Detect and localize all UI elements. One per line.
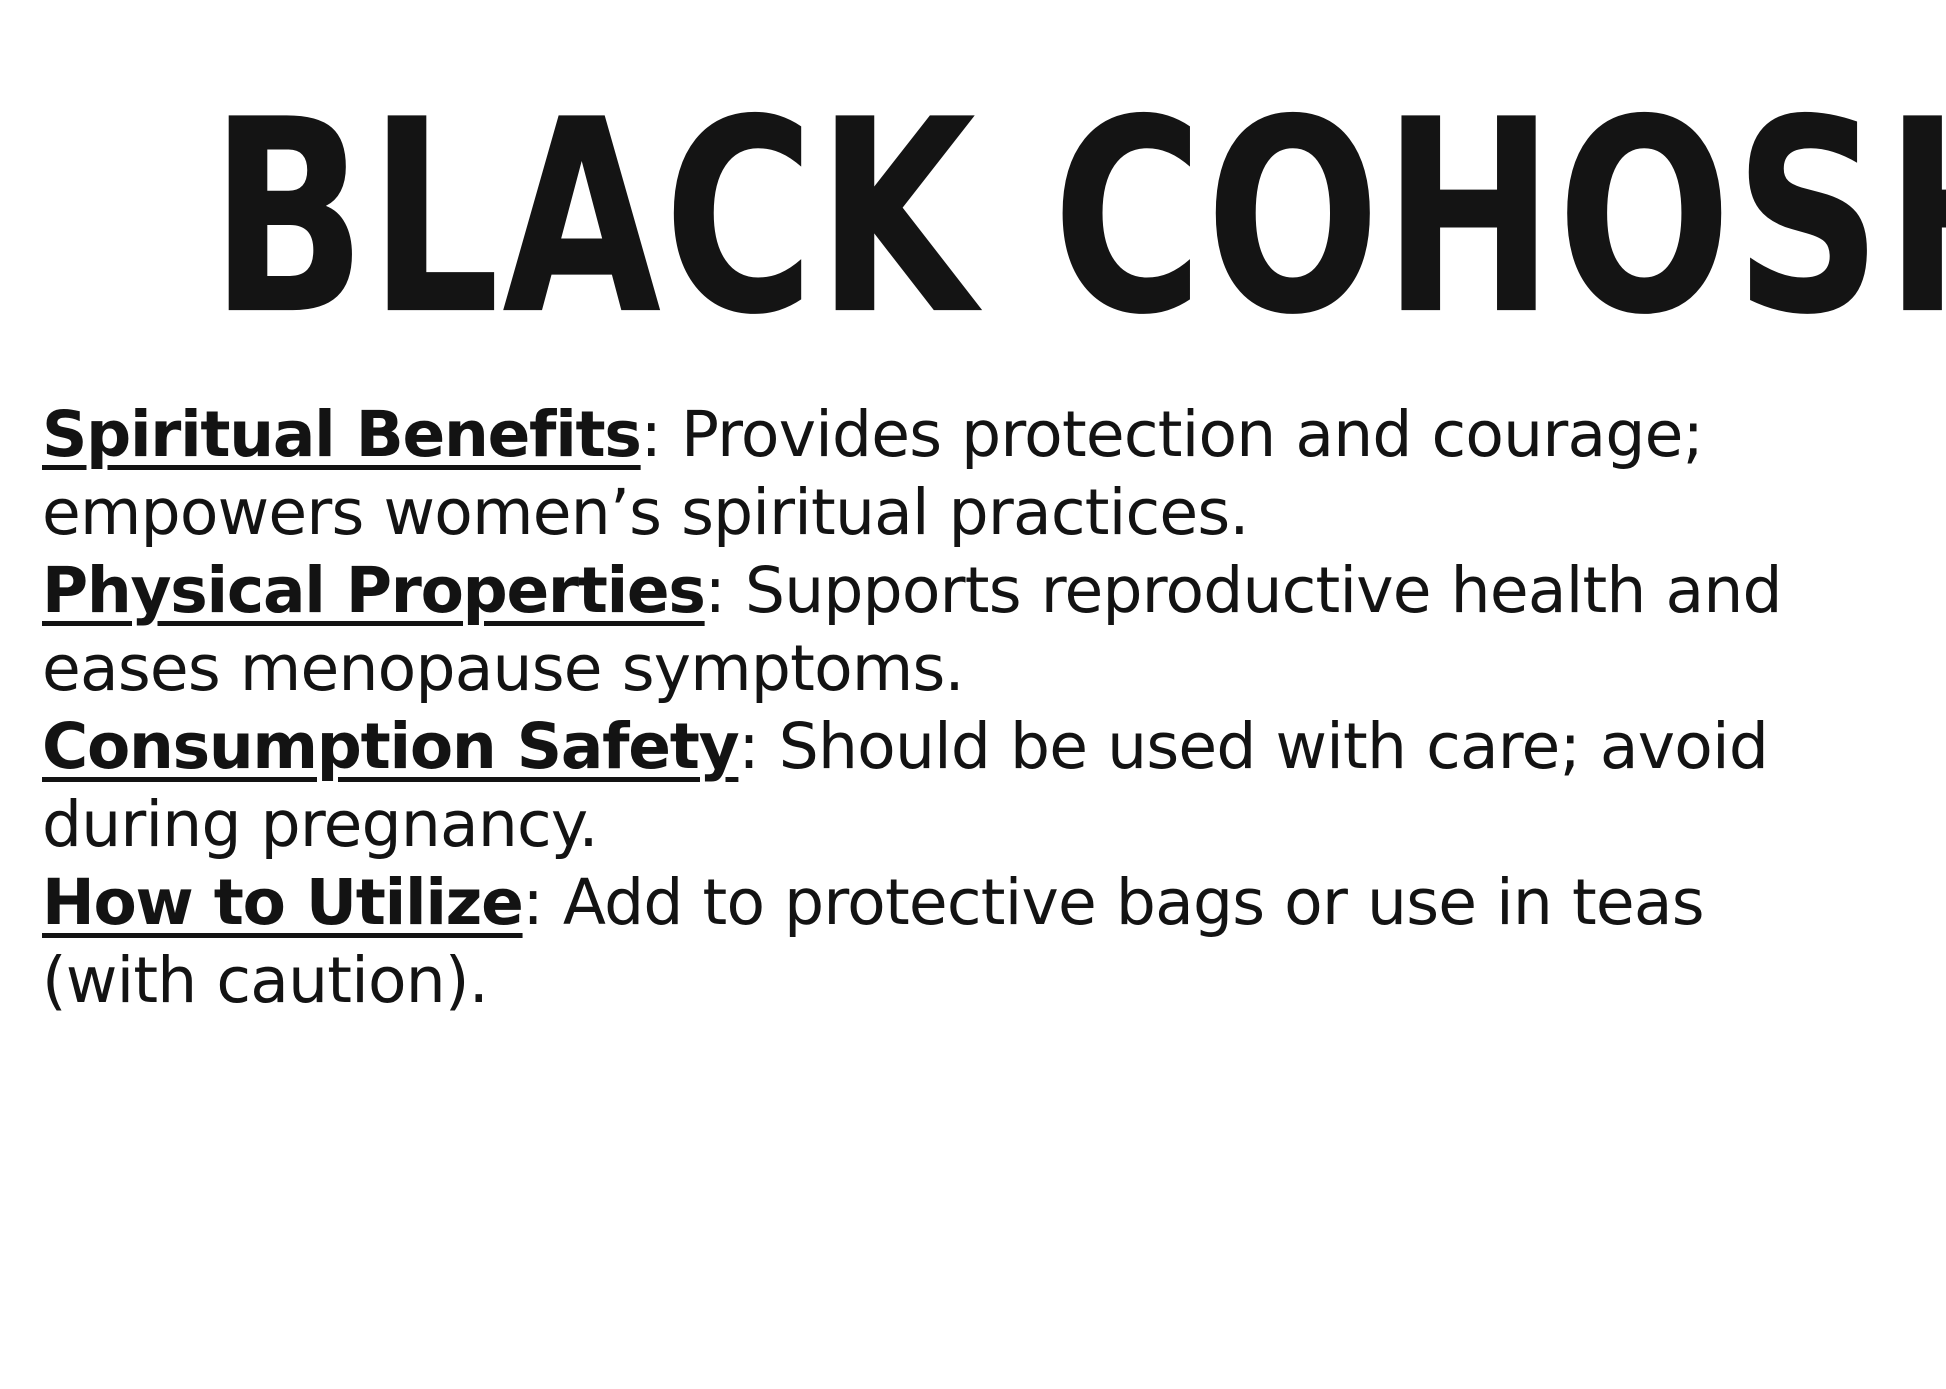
entry-separator: : [641, 398, 681, 471]
entry-separator: : [738, 710, 778, 783]
entry-separator: : [705, 554, 745, 627]
entry-label: How to Utilize [42, 866, 523, 939]
entry-label: Physical Properties [42, 554, 705, 627]
entry-consumption-safety: Consumption Safety: Should be used with … [42, 708, 1842, 864]
entry-label: Consumption Safety [42, 710, 738, 783]
entry-separator: : [523, 866, 563, 939]
entry-spiritual-benefits: Spiritual Benefits: Provides protection … [42, 396, 1842, 552]
entry-physical-properties: Physical Properties: Supports reproducti… [42, 552, 1842, 708]
entry-label: Spiritual Benefits [42, 398, 641, 471]
entry-how-to-utilize: How to Utilize: Add to protective bags o… [42, 864, 1842, 1020]
entry-list: Spiritual Benefits: Provides protection … [42, 396, 1842, 1020]
herb-info-card: BLACK COHOSH Spiritual Benefits: Provide… [0, 0, 1946, 1389]
page-title: BLACK COHOSH [210, 96, 1946, 342]
title-block: BLACK COHOSH [0, 96, 1946, 328]
